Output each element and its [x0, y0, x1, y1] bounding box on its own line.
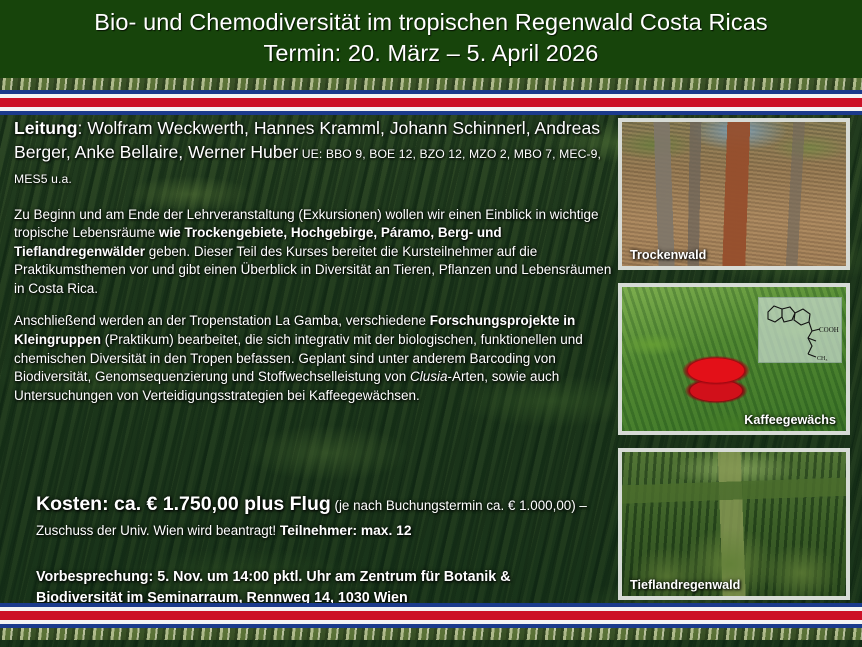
photo-column: Trockenwald C — [618, 118, 856, 613]
flag-stripe-blue-top-2 — [0, 111, 862, 115]
bottom-photo-strip — [0, 628, 862, 640]
photo-card-lowland-rainforest: Tieflandregenwald — [618, 448, 850, 600]
leadership-separator: : — [78, 118, 88, 138]
photo-caption-dry-forest: Trockenwald — [630, 248, 706, 262]
poster-title-line-2: Termin: 20. März – 5. April 2026 — [0, 36, 862, 67]
run-projects-0: Anschließend werden an der Tropenstation… — [14, 313, 430, 328]
photo-card-coffee-plant: COOH CH₃ Kaffeegewächs — [618, 283, 850, 435]
top-photo-strip — [0, 78, 862, 90]
paragraph-projects: Anschließend werden an der Tropenstation… — [14, 312, 614, 405]
chem-label-cooh: COOH — [819, 326, 839, 334]
poster-title-line-1: Bio- und Chemodiversität im tropischen R… — [0, 0, 862, 36]
content-area: Leitung: Wolfram Weckwerth, Hannes Kramm… — [0, 115, 862, 603]
paragraph-intro: Zu Beginn und am Ende der Lehrveranstalt… — [14, 206, 614, 299]
flag-stripe-blue-bottom-2 — [0, 624, 862, 628]
costs-block: Kosten: ca. € 1.750,00 plus Flug (je nac… — [36, 492, 616, 543]
photo-caption-coffee-plant: Kaffeegewächs — [744, 413, 836, 427]
dry-forest-image — [622, 122, 846, 266]
meeting-line-1: Vorbesprechung: 5. Nov. um 14:00 pktl. U… — [36, 567, 616, 588]
participants-limit: Teilnehmer: max. 12 — [280, 523, 412, 538]
lowland-rainforest-image — [622, 452, 846, 596]
run-projects-3-clusia: Clusia — [410, 369, 448, 384]
flag-stripe-red-bottom — [0, 611, 862, 620]
costs-headline: Kosten: ca. € 1.750,00 plus Flug — [36, 493, 331, 515]
chemical-structure-diagram: COOH CH₃ — [758, 297, 842, 363]
flag-stripe-red-top — [0, 98, 862, 107]
photo-card-dry-forest: Trockenwald — [618, 118, 850, 270]
chem-structure-icon: COOH CH₃ — [759, 298, 843, 364]
top-flag-stripes — [0, 90, 862, 115]
poster-root: Bio- und Chemodiversität im tropischen R… — [0, 0, 862, 647]
bottom-flag-stripes — [0, 603, 862, 628]
leadership-block: Leitung: Wolfram Weckwerth, Hannes Kramm… — [14, 115, 614, 192]
text-column: Leitung: Wolfram Weckwerth, Hannes Kramm… — [14, 115, 614, 405]
leadership-label: Leitung — [14, 118, 78, 138]
photo-caption-lowland-rainforest: Tieflandregenwald — [630, 578, 740, 592]
chem-label-ch3: CH₃ — [817, 356, 827, 362]
title-band: Bio- und Chemodiversität im tropischen R… — [0, 0, 862, 78]
